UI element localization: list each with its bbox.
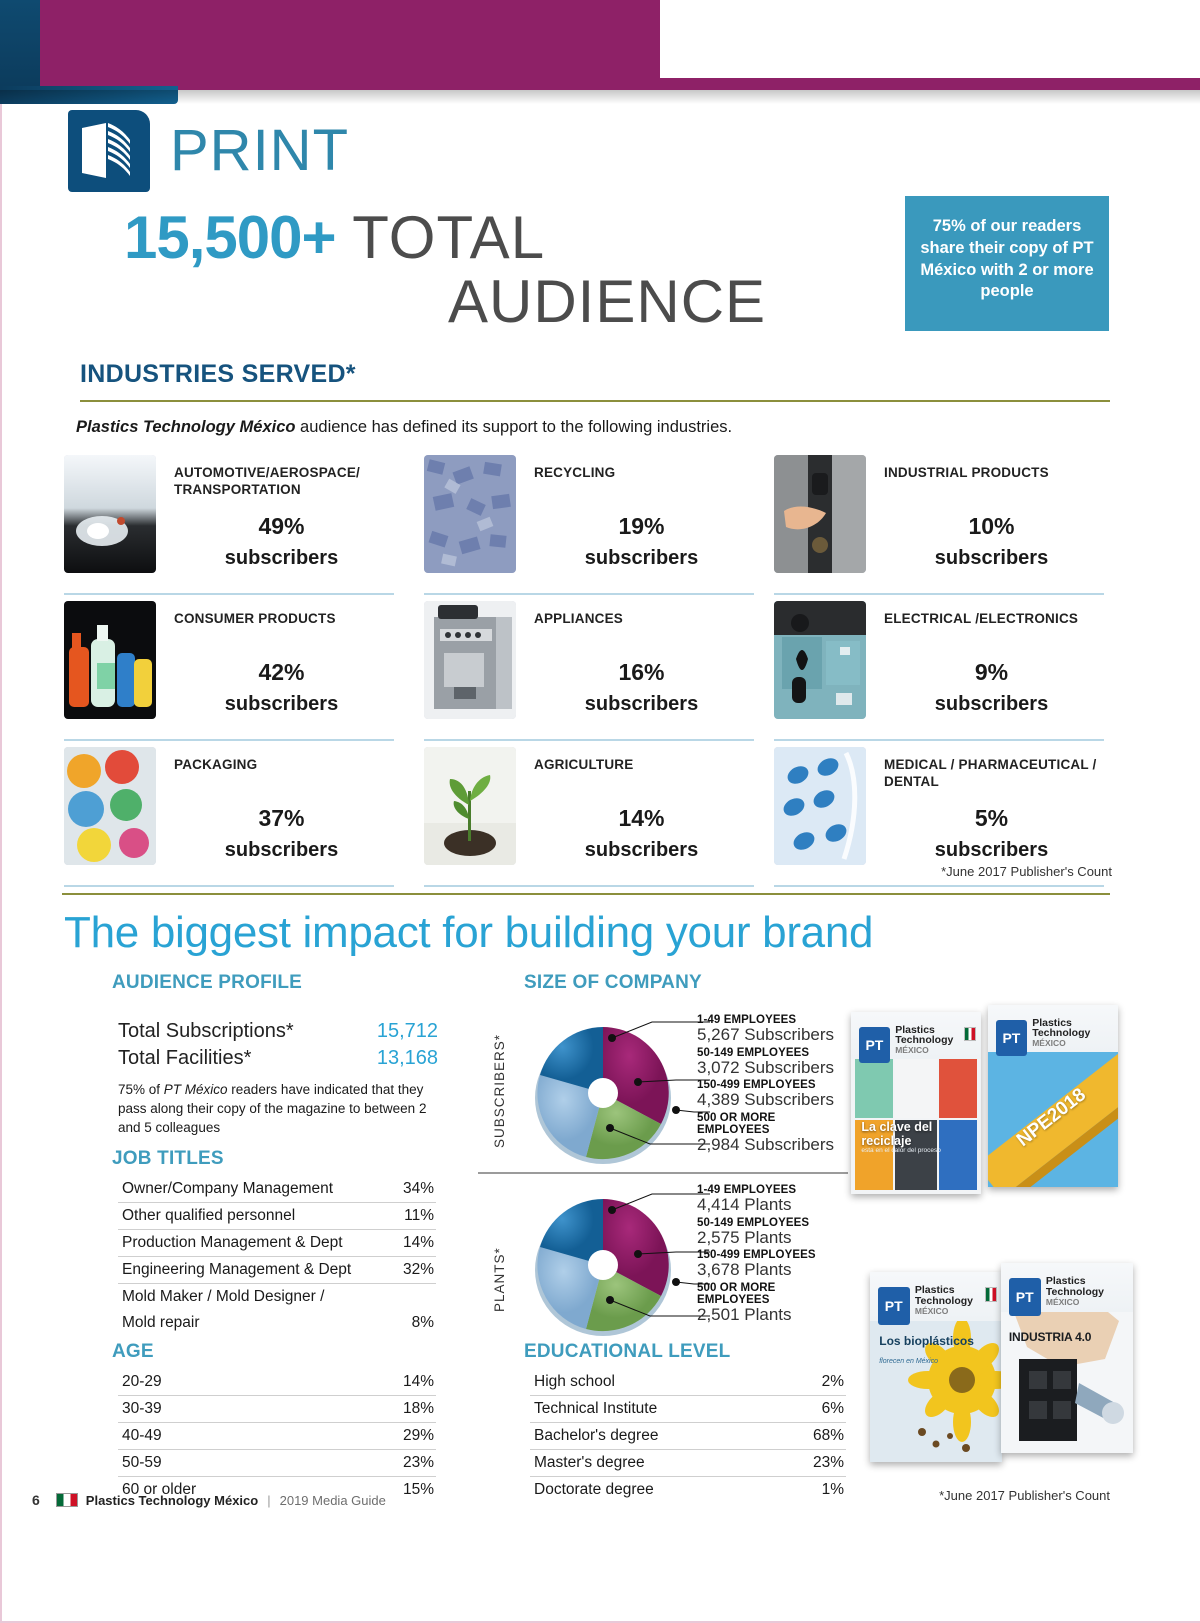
legend-item: 1-49 EMPLOYEES 5,267 Subscribers: [697, 1014, 847, 1045]
industry-cell: ELECTRICAL /ELECTRONICS 9% subscribers: [774, 601, 1104, 741]
industries-served-title: INDUSTRIES SERVED*: [80, 360, 356, 389]
pass-along-note: 75% of PT México readers have indicated …: [118, 1080, 430, 1137]
row-value: 6%: [822, 1400, 844, 1418]
row-label: High school: [534, 1373, 615, 1391]
table-row: 30-3918%: [118, 1396, 436, 1423]
legend-value: 5,267 Subscribers: [697, 1026, 847, 1045]
legend-value: 2,501 Plants: [697, 1306, 847, 1325]
footer-separator: |: [267, 1493, 270, 1508]
industry-percent: 42%: [174, 659, 389, 686]
industry-unit: subscribers: [534, 547, 749, 570]
table-row: Engineering Management & Dept32%: [118, 1257, 436, 1284]
industry-cell: CONSUMER PRODUCTS 42% subscribers: [64, 601, 394, 741]
pt-badge: PT: [996, 1020, 1027, 1056]
headline-total: TOTAL: [352, 204, 545, 271]
industry-percent: 10%: [884, 513, 1099, 540]
readers-share-callout: 75% of our readers share their copy of P…: [905, 196, 1109, 331]
legend-item: 50-149 EMPLOYEES 2,575 Plants: [697, 1217, 847, 1248]
industries-column-1: AUTOMOTIVE/AEROSPACE/ TRANSPORTATION 49%…: [64, 455, 394, 893]
audience-totals: Total Subscriptions* 15,712 Total Facili…: [118, 1018, 438, 1072]
legend-value: 4,389 Subscribers: [697, 1091, 847, 1110]
table-row: Mold Maker / Mold Designer /: [118, 1284, 436, 1310]
industry-unit: subscribers: [174, 547, 389, 570]
cover-masthead: Plastics Technology MÉXICO: [915, 1285, 973, 1315]
industry-name: AGRICULTURE: [534, 757, 633, 774]
industry-percent: 14%: [534, 805, 749, 832]
total-value: 13,168: [377, 1045, 438, 1072]
row-value: 68%: [813, 1427, 844, 1445]
table-row: 40-4929%: [118, 1423, 436, 1450]
industries-column-3: INDUSTRIAL PRODUCTS 10% subscribers ELEC…: [774, 455, 1104, 893]
row-value: 23%: [813, 1454, 844, 1472]
note-pre: 75% of: [118, 1082, 164, 1097]
magazine-cover: PT Plastics Technology MÉXICO Los bioplá…: [870, 1272, 1002, 1462]
row-label: 30-39: [122, 1400, 162, 1418]
cover-masthead: Plastics Technology MÉXICO: [895, 1025, 953, 1055]
hand-machine-photo: [774, 455, 866, 573]
page-edge-left: [0, 0, 2, 1623]
note-brand: PT México: [164, 1082, 228, 1097]
industry-name: APPLIANCES: [534, 611, 623, 628]
row-label: 50-59: [122, 1454, 162, 1472]
pt-badge: PT: [1009, 1278, 1041, 1316]
headline-audience: AUDIENCE: [448, 272, 766, 332]
row-value: 8%: [412, 1314, 434, 1332]
total-label: Total Facilities*: [118, 1045, 251, 1072]
industries-intro: Plastics Technology México audience has …: [76, 418, 732, 437]
industry-name: RECYCLING: [534, 465, 615, 482]
pt-badge: PT: [878, 1287, 910, 1325]
industry-unit: subscribers: [174, 839, 389, 862]
table-row: Doctorate degree1%: [530, 1477, 846, 1503]
plants-axis-label: PLANTS*: [492, 1222, 507, 1312]
industry-cell: AGRICULTURE 14% subscribers: [424, 747, 754, 887]
row-label: Other qualified personnel: [122, 1207, 295, 1225]
magazine-cover: PT Plastics Technology MÉXICO La clave d…: [851, 1012, 981, 1194]
industry-unit: subscribers: [884, 693, 1099, 716]
industry-cell: INDUSTRIAL PRODUCTS 10% subscribers: [774, 455, 1104, 595]
industry-percent: 16%: [534, 659, 749, 686]
table-row: Production Management & Dept14%: [118, 1230, 436, 1257]
legend-item: 1-49 EMPLOYEES 4,414 Plants: [697, 1184, 847, 1215]
industries-intro-brand: Plastics Technology México: [76, 418, 295, 436]
row-label: Owner/Company Management: [122, 1180, 333, 1198]
legend-value: 3,072 Subscribers: [697, 1059, 847, 1078]
industries-footnote: *June 2017 Publisher's Count: [941, 864, 1112, 879]
row-label: Engineering Management & Dept: [122, 1261, 351, 1279]
legend-item: 50-149 EMPLOYEES 3,072 Subscribers: [697, 1047, 847, 1078]
cover-masthead: Plastics Technology MÉXICO: [1046, 1276, 1104, 1306]
industry-percent: 9%: [884, 659, 1099, 686]
electronics-panel-photo: [774, 601, 866, 719]
row-value: 15%: [403, 1481, 434, 1499]
page-header-banner: [0, 0, 1200, 100]
table-row: Mold repair8%: [118, 1310, 436, 1336]
row-label: 40-49: [122, 1427, 162, 1445]
industry-cell: PACKAGING 37% subscribers: [64, 747, 394, 887]
total-row: Total Facilities* 13,168: [118, 1045, 438, 1072]
audience-profile-title: AUDIENCE PROFILE: [112, 972, 302, 994]
legend-item: 500 OR MORE EMPLOYEES 2,984 Subscribers: [697, 1112, 847, 1155]
cover-masthead: Plastics Technology MÉXICO: [1032, 1018, 1090, 1048]
row-value: 2%: [822, 1373, 844, 1391]
row-value: 11%: [404, 1207, 434, 1225]
magazine-cover: PT Plastics Technology MÉXICO INDUSTRIA …: [1001, 1263, 1133, 1453]
cleaning-bottles-photo: [64, 601, 156, 719]
car-headlight-photo: [64, 455, 156, 573]
educational-level-table: High school2% Technical Institute6% Bach…: [530, 1369, 846, 1503]
industry-percent: 37%: [174, 805, 389, 832]
industry-name: ELECTRICAL /ELECTRONICS: [884, 611, 1078, 628]
charts-divider: [478, 1172, 848, 1174]
headline-number: 15,500+: [124, 204, 336, 271]
row-label: Bachelor's degree: [534, 1427, 658, 1445]
footer-guide: 2019 Media Guide: [280, 1493, 386, 1508]
mexico-flag-icon: [964, 1027, 976, 1042]
page-footnote: *June 2017 Publisher's Count: [939, 1488, 1110, 1503]
open-book-icon: [68, 110, 150, 192]
table-row: 50-5923%: [118, 1450, 436, 1477]
industries-intro-rest: audience has defined its support to the …: [295, 418, 732, 436]
industry-cell: AUTOMOTIVE/AEROSPACE/ TRANSPORTATION 49%…: [64, 455, 394, 595]
table-row: High school2%: [530, 1369, 846, 1396]
section-divider-olive: [62, 893, 1110, 895]
industry-unit: subscribers: [534, 693, 749, 716]
industry-name: CONSUMER PRODUCTS: [174, 611, 336, 628]
row-value: 32%: [403, 1261, 434, 1279]
industry-percent: 49%: [174, 513, 389, 540]
industry-cell: RECYCLING 19% subscribers: [424, 455, 754, 595]
legend-value: 2,575 Plants: [697, 1229, 847, 1248]
legend-value: 3,678 Plants: [697, 1261, 847, 1280]
headline-line-1: 15,500+ TOTAL: [124, 208, 545, 268]
row-value: 18%: [403, 1400, 434, 1418]
masthead-line3: MÉXICO: [915, 1307, 973, 1316]
industries-column-2: RECYCLING 19% subscribers APPLIANCES 16%…: [424, 455, 754, 893]
table-row: Technical Institute6%: [530, 1396, 846, 1423]
header-magenta-band: [40, 0, 1200, 90]
table-row: Other qualified personnel11%: [118, 1203, 436, 1230]
subscribers-axis-label: SUBSCRIBERS*: [492, 1030, 507, 1148]
table-row: Owner/Company Management34%: [118, 1176, 436, 1203]
industry-unit: subscribers: [174, 693, 389, 716]
row-value: 14%: [403, 1234, 434, 1252]
legend-item: 150-499 EMPLOYEES 4,389 Subscribers: [697, 1079, 847, 1110]
row-label: Master's degree: [534, 1454, 645, 1472]
legend-item: 500 OR MORE EMPLOYEES 2,501 Plants: [697, 1282, 847, 1325]
industry-unit: subscribers: [884, 547, 1099, 570]
row-value: 14%: [403, 1373, 434, 1391]
masthead-line3: MÉXICO: [1046, 1298, 1104, 1307]
educational-level-title: EDUCATIONAL LEVEL: [524, 1341, 730, 1363]
cover-headline: La clave del reciclaje: [861, 1121, 981, 1148]
industry-cell: APPLIANCES 16% subscribers: [424, 601, 754, 741]
legend-tier: 500 OR MORE EMPLOYEES: [697, 1112, 847, 1136]
cover-headline: INDUSTRIA 4.0: [1009, 1330, 1091, 1344]
total-row: Total Subscriptions* 15,712: [118, 1018, 438, 1045]
total-value: 15,712: [377, 1018, 438, 1045]
legend-item: 150-499 EMPLOYEES 3,678 Plants: [697, 1249, 847, 1280]
size-of-company-title: SIZE OF COMPANY: [524, 972, 702, 994]
seedling-photo: [424, 747, 516, 865]
table-row: 20-2914%: [118, 1369, 436, 1396]
row-value: 23%: [403, 1454, 434, 1472]
print-label: PRINT: [170, 122, 349, 180]
row-label: Doctorate degree: [534, 1481, 654, 1499]
industry-unit: subscribers: [534, 839, 749, 862]
print-title-row: PRINT: [68, 110, 349, 192]
page-number: 6: [32, 1492, 40, 1508]
impact-headline: The biggest impact for building your bra…: [64, 908, 873, 958]
plants-legend: 1-49 EMPLOYEES 4,414 Plants 50-149 EMPLO…: [697, 1184, 847, 1327]
blister-pack-photo: [774, 747, 866, 865]
mexico-flag-icon: [56, 1493, 78, 1507]
header-dropshadow: [0, 90, 1200, 104]
industry-name: AUTOMOTIVE/AEROSPACE/ TRANSPORTATION: [174, 465, 394, 499]
coffee-machine-photo: [424, 601, 516, 719]
legend-tier: 500 OR MORE EMPLOYEES: [697, 1282, 847, 1306]
industry-name: MEDICAL / PHARMACEUTICAL / DENTAL: [884, 757, 1104, 791]
magazine-cover: PT Plastics Technology MÉXICO NPE2018: [988, 1005, 1118, 1187]
table-row: Master's degree23%: [530, 1450, 846, 1477]
job-titles-title: JOB TITLES: [112, 1148, 224, 1170]
industry-percent: 19%: [534, 513, 749, 540]
legend-value: 2,984 Subscribers: [697, 1136, 847, 1155]
cover-headline: Los bioplásticos: [879, 1335, 974, 1348]
row-label: Mold repair: [122, 1314, 200, 1332]
footer-brand: Plastics Technology México: [86, 1493, 258, 1508]
table-row: Bachelor's degree68%: [530, 1423, 846, 1450]
legend-tier: 50-149 EMPLOYEES: [697, 1047, 847, 1059]
row-label: Technical Institute: [534, 1400, 657, 1418]
mexico-flag-icon: [985, 1287, 997, 1302]
industry-name: PACKAGING: [174, 757, 257, 774]
row-label: Production Management & Dept: [122, 1234, 343, 1252]
cover-subhead: florecen en México: [879, 1358, 938, 1365]
row-label: Mold Maker / Mold Designer /: [122, 1288, 324, 1306]
legend-value: 4,414 Plants: [697, 1196, 847, 1215]
industry-percent: 5%: [884, 805, 1099, 832]
pt-badge: PT: [859, 1027, 890, 1063]
industries-title-rule: [80, 400, 1110, 402]
cover-subhead: esta en el calor del proceso: [861, 1147, 941, 1154]
row-label: 20-29: [122, 1373, 162, 1391]
masthead-line3: MÉXICO: [1032, 1039, 1090, 1048]
masthead-line3: MÉXICO: [895, 1046, 953, 1055]
age-title: AGE: [112, 1341, 154, 1363]
row-value: 29%: [403, 1427, 434, 1445]
job-titles-table: Owner/Company Management34% Other qualif…: [118, 1176, 436, 1336]
industry-name: INDUSTRIAL PRODUCTS: [884, 465, 1049, 482]
page-footer: 6 Plastics Technology México | 2019 Medi…: [32, 1492, 386, 1508]
row-value: 34%: [403, 1180, 434, 1198]
age-table: 20-2914% 30-3918% 40-4929% 50-5923% 60 o…: [118, 1369, 436, 1503]
total-label: Total Subscriptions*: [118, 1018, 294, 1045]
subscribers-legend: 1-49 EMPLOYEES 5,267 Subscribers 50-149 …: [697, 1014, 847, 1157]
recycled-flakes-photo: [424, 455, 516, 573]
plastic-cups-photo: [64, 747, 156, 865]
legend-tier: 50-149 EMPLOYEES: [697, 1217, 847, 1229]
industry-unit: subscribers: [884, 839, 1099, 862]
row-value: 1%: [822, 1481, 844, 1499]
